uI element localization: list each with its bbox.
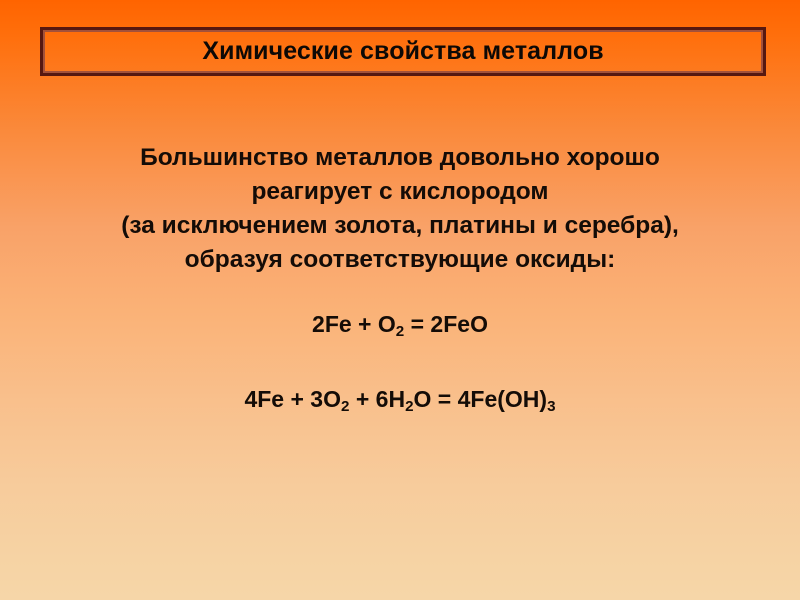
page-title: Химические свойства металлов — [202, 39, 603, 64]
equation-text: 2Fe + O — [312, 311, 396, 337]
equation-text: + 6H — [349, 386, 405, 412]
body-line-4: образуя соответствующие оксиды: — [0, 243, 800, 277]
title-frame-inner-border: Химические свойства металлов — [43, 30, 763, 73]
slide-canvas: Химические свойства металлов Большинство… — [0, 0, 800, 600]
equation-subscript: 2 — [396, 323, 404, 340]
chemical-equation-1: 2Fe + O2 = 2FeO — [0, 310, 800, 342]
equation-subscript: 3 — [547, 398, 555, 415]
equation-subscript: 2 — [405, 398, 413, 415]
title-frame: Химические свойства металлов — [40, 27, 766, 76]
body-line-2: реагирует с кислородом — [0, 175, 800, 209]
body-line-1: Большинство металлов довольно хорошо — [0, 141, 800, 175]
equation-subscript: 2 — [341, 398, 349, 415]
body-line-3: (за исключением золота, платины и серебр… — [0, 209, 800, 243]
equation-text: 4Fe + 3O — [244, 386, 341, 412]
equation-text: O = 4Fe(OH) — [414, 386, 548, 412]
body-paragraph: Большинство металлов довольно хорошо реа… — [0, 141, 800, 277]
equation-text: = 2FeO — [404, 311, 488, 337]
chemical-equation-2: 4Fe + 3O2 + 6H2O = 4Fe(OH)3 — [0, 385, 800, 417]
